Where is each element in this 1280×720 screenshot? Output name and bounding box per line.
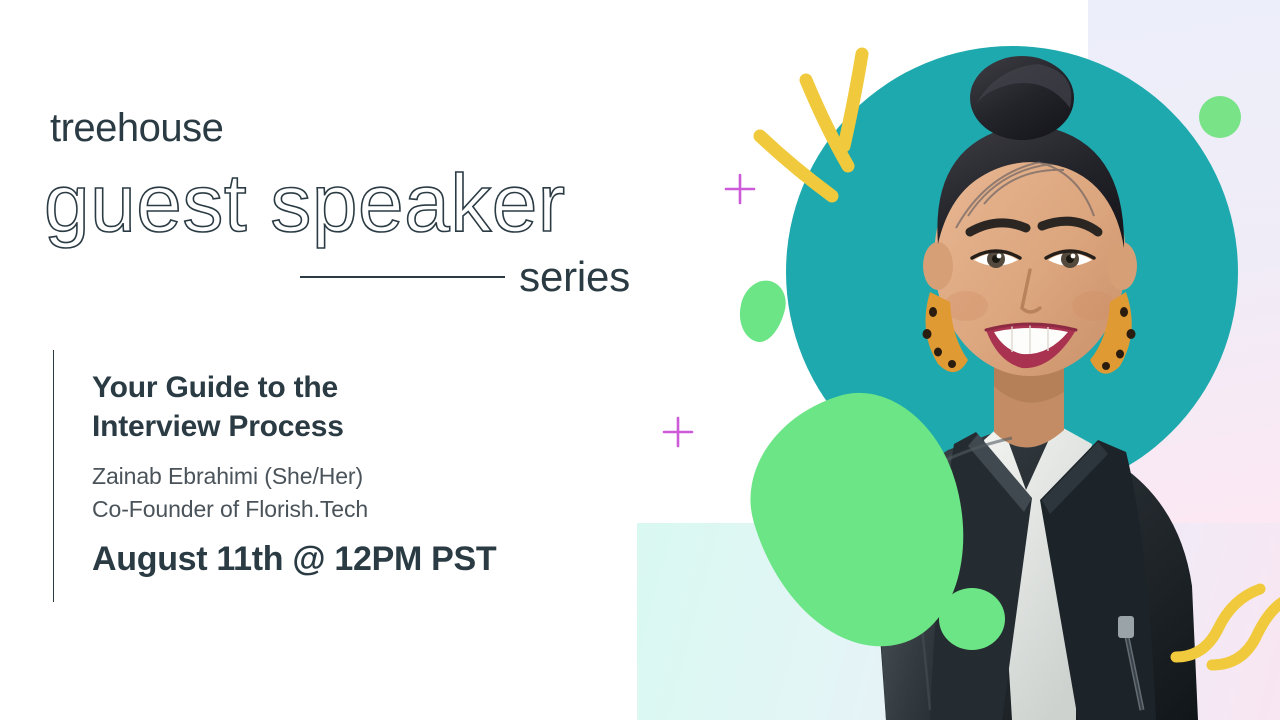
wavy-lines-icon [1160, 565, 1280, 675]
series-label: series [519, 256, 630, 298]
event-datetime: August 11th @ 12PM PST [92, 541, 496, 578]
treehouse-wordmark: treehouse [50, 108, 223, 148]
speaker-name: Zainab Ebrahimi (She/Her) [92, 460, 496, 493]
green-bean-blob-shape [727, 372, 994, 674]
event-details-block: Your Guide to the Interview Process Zain… [53, 350, 496, 602]
green-circle-shape-lower [939, 588, 1005, 650]
headline-guest-speaker: guest speaker [44, 163, 566, 245]
green-small-blob-shape [733, 276, 791, 347]
text-content-area: treehouse guest speaker series Your Guid… [0, 0, 700, 720]
sunburst-strokes-icon [740, 40, 900, 230]
series-divider-rule [300, 276, 505, 278]
series-row: series [300, 256, 630, 298]
green-circle-shape-upper [1199, 96, 1241, 138]
talk-title: Your Guide to the Interview Process [92, 350, 496, 446]
promo-slide: treehouse guest speaker series Your Guid… [0, 0, 1280, 720]
speaker-role: Co-Founder of Florish.Tech [92, 493, 496, 526]
plus-mark-icon-top [723, 172, 757, 206]
